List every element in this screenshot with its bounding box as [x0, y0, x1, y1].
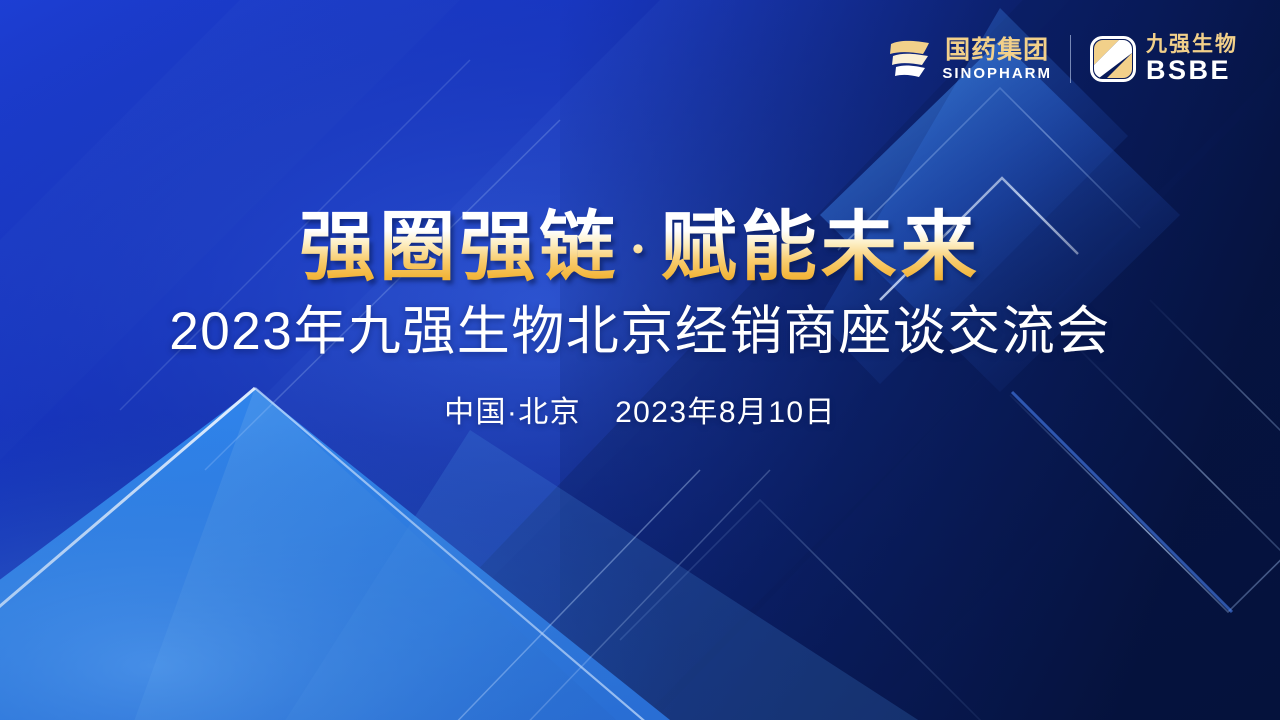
sinopharm-cn-name: 国药集团: [945, 38, 1049, 63]
sinopharm-logo: 国药集团 SINOPHARM: [887, 37, 1052, 81]
bsbe-logo: 九强生物 BSBE: [1089, 34, 1238, 84]
bsbe-en-name: BSBE: [1146, 57, 1238, 84]
sinopharm-wordmark: 国药集团 SINOPHARM: [942, 38, 1052, 81]
event-subtitle: 2023年九强生物北京经销商座谈交流会: [0, 302, 1280, 361]
bsbe-wordmark: 九强生物 BSBE: [1146, 34, 1238, 84]
main-title: 强圈强链·赋能未来: [0, 206, 1280, 288]
logo-bar: 国药集团 SINOPHARM 九强生物 BS: [887, 34, 1238, 84]
main-title-left: 强圈强链: [299, 202, 619, 291]
sinopharm-en-name: SINOPHARM: [942, 66, 1052, 81]
poster-text-block: 强圈强链·赋能未来 2023年九强生物北京经销商座谈交流会 中国·北京2023年…: [0, 206, 1280, 431]
event-meta: 中国·北京2023年8月10日: [0, 387, 1280, 431]
bsbe-cn-name: 九强生物: [1146, 34, 1238, 55]
bsbe-s-monogram-icon: [1089, 35, 1137, 83]
logo-divider: [1070, 35, 1071, 83]
main-title-right: 赋能未来: [661, 202, 981, 291]
event-date: 2023年8月10日: [615, 396, 836, 429]
event-location: 中国·北京: [444, 396, 581, 429]
main-title-separator: ·: [619, 219, 660, 278]
poster-canvas: 国药集团 SINOPHARM 九强生物 BS: [0, 0, 1280, 720]
sinopharm-ribbon-icon: [887, 37, 933, 81]
